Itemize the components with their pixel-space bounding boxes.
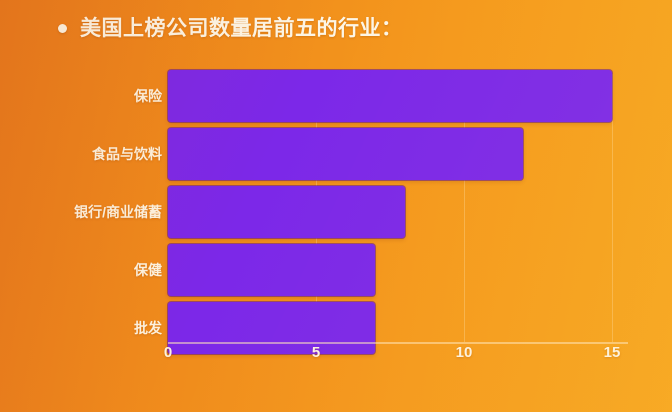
bar bbox=[168, 128, 523, 180]
x-axis: 051015 bbox=[0, 344, 672, 370]
x-tick-label: 0 bbox=[164, 344, 172, 361]
bar-row: 食品与饮料 bbox=[0, 128, 672, 180]
bar-category-label: 食品与饮料 bbox=[92, 128, 162, 180]
bar-category-label: 保险 bbox=[134, 70, 162, 122]
bar-row: 保健 bbox=[0, 244, 672, 296]
bullet-icon bbox=[58, 24, 67, 33]
x-tick-label: 15 bbox=[604, 344, 621, 361]
chart-slide: 美国上榜公司数量居前五的行业： 保险食品与饮料银行/商业储蓄保健批发 05101… bbox=[0, 0, 672, 412]
bar bbox=[168, 186, 405, 238]
bar bbox=[168, 244, 375, 296]
bar-row: 银行/商业储蓄 bbox=[0, 186, 672, 238]
bar-category-label: 保健 bbox=[134, 244, 162, 296]
bar bbox=[168, 70, 612, 122]
bar-row: 保险 bbox=[0, 70, 672, 122]
bar-category-label: 银行/商业储蓄 bbox=[74, 186, 162, 238]
x-tick-label: 5 bbox=[312, 344, 320, 361]
x-tick-label: 10 bbox=[456, 344, 473, 361]
plot-area: 保险食品与饮料银行/商业储蓄保健批发 051015 bbox=[0, 70, 672, 370]
bar-group: 保险食品与饮料银行/商业储蓄保健批发 bbox=[0, 70, 672, 360]
page-title: 美国上榜公司数量居前五的行业： bbox=[80, 18, 403, 39]
slide-title-row: 美国上榜公司数量居前五的行业： bbox=[58, 18, 403, 39]
